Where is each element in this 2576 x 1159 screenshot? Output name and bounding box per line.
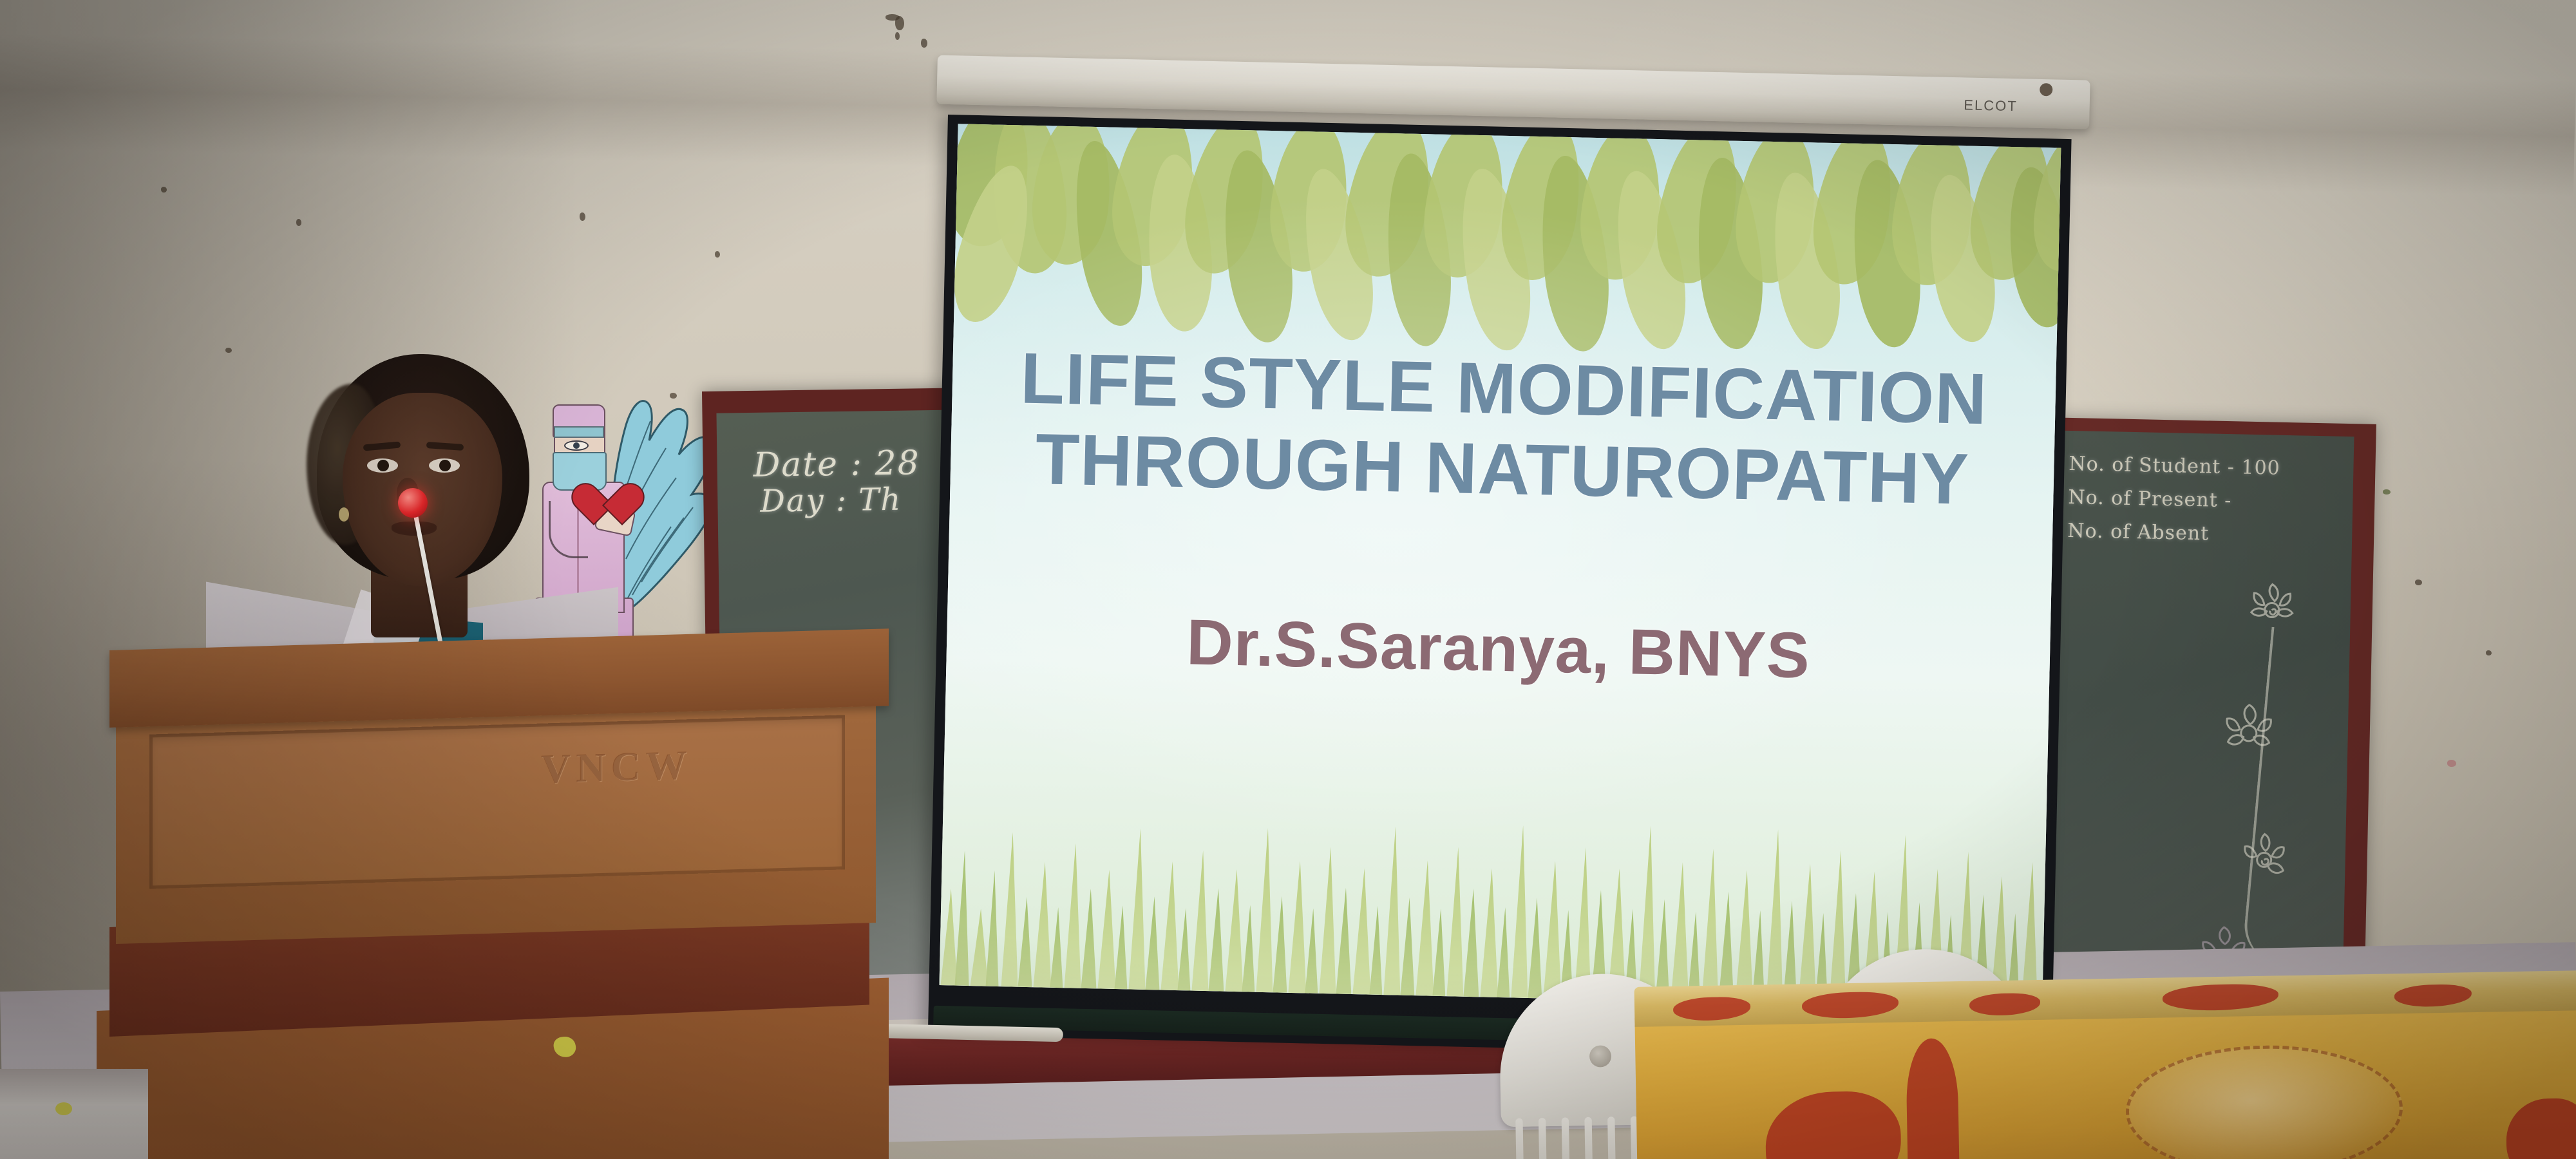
tablecloth-motif: [1969, 993, 2041, 1016]
wall-speck: [885, 14, 900, 21]
screen-brand-label: ELCOT: [1964, 97, 2018, 115]
earring-icon: [339, 507, 349, 522]
wall-speck: [2486, 650, 2492, 655]
speaker-eye-right: [429, 458, 460, 473]
wall-speck: [921, 39, 927, 48]
wall-speck: [580, 212, 585, 221]
wall-speck: [225, 348, 232, 353]
chalk-day-line: Day : Th: [760, 482, 902, 520]
wall-speck: [715, 251, 720, 258]
chalk-absent-count: No. of Absent: [2067, 520, 2210, 545]
speaker-mouth: [392, 522, 437, 536]
wall-speck: [296, 219, 301, 226]
tablecloth-motif: [2394, 984, 2472, 1007]
slide-author: Dr.S.Saranya, BNYS: [946, 600, 2050, 698]
chalk-flower-icon: [2233, 824, 2296, 887]
tablecloth-motif: [1673, 997, 1751, 1021]
podium-inset-panel: [149, 715, 845, 889]
tablecloth-wreath-motif: [2125, 1043, 2403, 1159]
slide-title: LIFE STYLE MODIFICATION THROUGH NATUROPA…: [950, 336, 2056, 522]
tablecloth-motif: [2163, 983, 2279, 1011]
projector-screen: ELCOT: [928, 115, 2072, 1060]
lecture-hall-photo: Date : 28 Day : Th No. of Student - 100 …: [0, 0, 2576, 1159]
podium: VNCW: [109, 650, 889, 1159]
chalk-date-line: Date : 28: [753, 444, 920, 485]
projector-screen-surface: LIFE STYLE MODIFICATION THROUGH NATUROPA…: [940, 124, 2061, 1009]
projector-screen-frame: LIFE STYLE MODIFICATION THROUGH NATUROPA…: [928, 115, 2072, 1060]
speaker-eye-left: [367, 458, 398, 473]
podium-engraved-text: VNCW: [541, 741, 692, 793]
tablecloth-motif: [1906, 1038, 1959, 1159]
wall-speck: [161, 187, 167, 193]
chalk-vine-drawing: [2241, 627, 2319, 965]
wall-speck: [895, 32, 900, 40]
blackboard-right: No. of Student - 100 No. of Present - No…: [2030, 417, 2376, 991]
screen-mount-knob: [2040, 83, 2052, 96]
wall-speck: [2447, 760, 2456, 767]
tablecloth-motif: [1765, 1091, 1902, 1159]
blackboard-right-surface: No. of Student - 100 No. of Present - No…: [2040, 430, 2354, 979]
presentation-slide: LIFE STYLE MODIFICATION THROUGH NATUROPA…: [940, 124, 2061, 1009]
chalk-flower-icon: [2217, 698, 2280, 761]
wall-speck: [2383, 489, 2391, 495]
podium-front-panel: VNCW: [116, 691, 876, 944]
chalk-present-count: No. of Present -: [2068, 486, 2232, 512]
floor-debris: [55, 1102, 72, 1115]
floor-strip: [0, 1069, 148, 1159]
chalk-flower-icon: [2240, 576, 2304, 639]
wall-speck: [2415, 579, 2422, 585]
tablecloth-motif: [2506, 1098, 2576, 1159]
microphone-icon: [398, 488, 428, 518]
tablecloth: [1634, 1001, 2576, 1159]
tablecloth-motif: [1802, 992, 1899, 1019]
draped-table: [1634, 970, 2576, 1159]
chalk-student-count: No. of Student - 100: [2069, 453, 2280, 480]
